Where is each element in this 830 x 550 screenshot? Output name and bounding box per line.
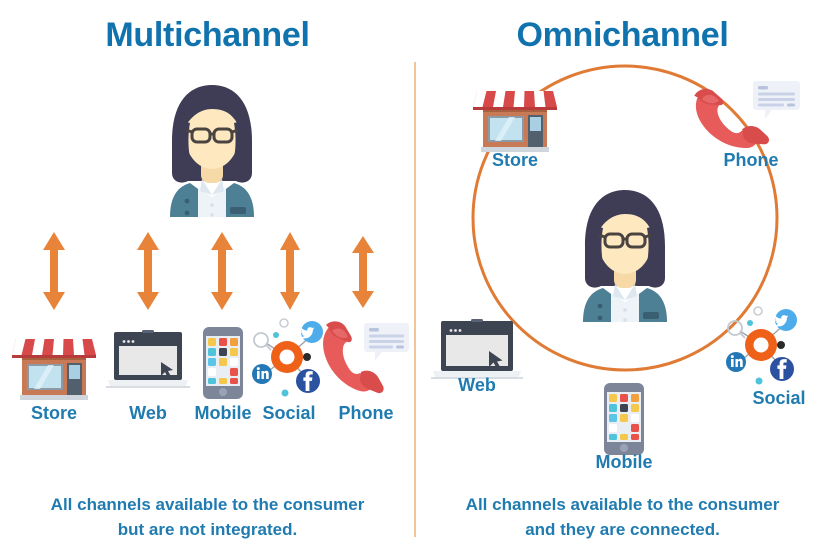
laptop-browser-icon-right [431,317,523,383]
caption-omnichannel: All channels available to the consumer a… [415,492,830,542]
caption-line-2: but are not integrated. [0,517,415,542]
phone-handset-icon-right [698,77,802,159]
caption-line-2: and they are connected. [415,517,830,542]
phone-handset-icon-left [320,317,410,397]
channel-label-phone-right: Phone [723,150,778,171]
channel-label-web-right: Web [458,375,496,396]
channel-label-web-left: Web [129,403,167,424]
smartphone-icon-left [201,327,245,399]
multichannel-panel: Multichannel [0,0,415,550]
chat-bubble-icon [753,81,800,119]
infographic-root: Multichannel [0,0,830,550]
search-icon [728,321,742,335]
storefront-icon-left [12,327,96,403]
channel-label-store-right: Store [492,150,538,171]
storefront-icon-right [473,79,557,155]
page-title-multichannel: Multichannel [0,16,415,55]
chat-bubble-icon [364,323,409,361]
double-headed-arrow-web [135,232,161,310]
omnichannel-panel: Omnichannel [415,0,830,550]
customer-avatar-left [156,77,268,217]
caption-multichannel: All channels available to the consumer b… [0,492,415,542]
double-headed-arrow-phone [350,236,376,308]
customer-avatar-right [569,182,681,322]
channel-label-mobile-right: Mobile [596,452,653,473]
social-network-icon-left [244,315,330,399]
double-headed-arrow-store [41,232,67,310]
caption-line-1: All channels available to the consumer [0,492,415,517]
channel-label-social-left: Social [262,403,315,424]
search-icon [254,333,268,347]
double-headed-arrow-mobile [209,232,235,310]
social-network-icon-right [718,303,804,387]
caption-line-1: All channels available to the consumer [415,492,830,517]
channel-label-store-left: Store [31,403,77,424]
smartphone-icon-right [602,383,646,455]
double-headed-arrow-social [278,232,302,310]
laptop-browser-icon-left [106,328,190,392]
channel-label-phone-left: Phone [338,403,393,424]
channel-label-social-right: Social [752,388,805,409]
channel-label-mobile-left: Mobile [195,403,252,424]
